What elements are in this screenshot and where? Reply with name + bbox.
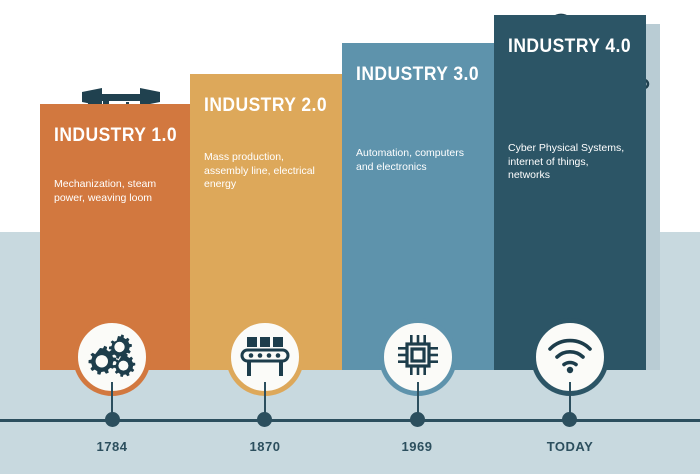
microchip-icon xyxy=(396,333,440,382)
stage-title: INDUSTRY 2.0 xyxy=(204,96,318,116)
wifi-icon xyxy=(546,336,594,379)
timeline-marker[interactable] xyxy=(105,412,120,427)
timeline-year-label: 1784 xyxy=(67,439,157,454)
timeline-marker[interactable] xyxy=(562,412,577,427)
stage-description: Mass production, assembly line, electric… xyxy=(204,151,328,192)
timeline-marker[interactable] xyxy=(410,412,425,427)
timeline-marker[interactable] xyxy=(257,412,272,427)
stage-title: INDUSTRY 1.0 xyxy=(54,126,166,146)
stage-title: INDUSTRY 4.0 xyxy=(508,37,622,57)
infographic-canvas: ERP INDUSTRY xyxy=(0,0,700,474)
conveyor-belt-icon xyxy=(240,333,290,382)
gears-icon xyxy=(88,333,136,382)
timeline-year-label: 1870 xyxy=(220,439,310,454)
stage-column-industry-4[interactable]: INDUSTRY 4.0 Cyber Physical Systems, int… xyxy=(494,15,646,370)
stage-description: Automation, computers and electronics xyxy=(356,147,480,174)
timeline-year-label: 1969 xyxy=(372,439,462,454)
stage-description: Cyber Physical Systems, internet of thin… xyxy=(508,142,632,183)
timeline-year-label: TODAY xyxy=(525,439,615,454)
stage-title: INDUSTRY 3.0 xyxy=(356,65,470,85)
stage-description: Mechanization, steam power, weaving loom xyxy=(54,178,176,205)
